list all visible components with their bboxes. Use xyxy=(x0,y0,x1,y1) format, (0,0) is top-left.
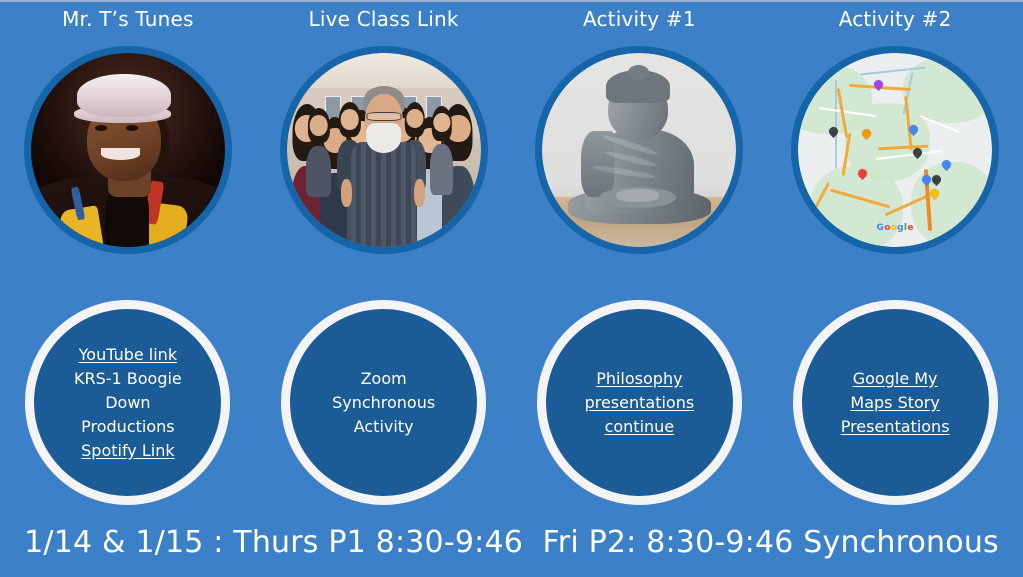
map-terrain xyxy=(911,162,992,247)
tunes-artist-line-2: Down xyxy=(105,391,150,415)
zoom-activity-line-1: Zoom xyxy=(361,367,407,391)
google-watermark-letter: e xyxy=(907,223,913,233)
tunes-artist-line-1: KRS-1 Boogie xyxy=(74,367,182,391)
column-headers: Mr. T’s Tunes Live Class Link Activity #… xyxy=(0,5,1023,33)
google-my-maps-link-line-3[interactable]: Presentations xyxy=(841,415,950,439)
student-figure xyxy=(430,144,453,194)
buddha-statue-photo xyxy=(535,46,743,254)
google-my-maps-circle[interactable]: Google My Maps Story Presentations xyxy=(793,300,998,505)
zoom-activity-circle[interactable]: Zoom Synchronous Activity xyxy=(281,300,486,505)
text-cell-live-class: Zoom Synchronous Activity xyxy=(256,300,512,505)
philosophy-presentations-circle[interactable]: Philosophy presentations continue xyxy=(537,300,742,505)
column-header-activity-1: Activity #1 xyxy=(512,5,768,33)
class-group-image xyxy=(287,53,481,247)
buddha-artwork xyxy=(542,53,736,247)
portrait-shirt xyxy=(105,189,150,247)
spotify-link[interactable]: Spotify Link xyxy=(81,439,175,463)
map-artwork: Google xyxy=(798,53,992,247)
text-cell-tunes: YouTube link KRS-1 Boogie Down Productio… xyxy=(0,300,256,505)
buddha-statue-image xyxy=(542,53,736,247)
google-map-photo: Google xyxy=(791,46,999,254)
teacher-figure xyxy=(351,142,417,247)
student-figure xyxy=(306,146,331,196)
buddha-hands xyxy=(616,189,659,203)
portrait-bucket-hat xyxy=(77,74,170,117)
teacher-thumbs-up-left xyxy=(341,179,352,207)
portrait-artwork xyxy=(31,53,225,247)
top-edge-line xyxy=(0,0,1023,2)
classroom-artwork xyxy=(287,53,481,247)
column-header-tunes: Mr. T’s Tunes xyxy=(0,5,256,33)
musician-portrait-photo xyxy=(24,46,232,254)
portrait-eye-right xyxy=(126,125,138,131)
google-my-maps-link-line-1[interactable]: Google My xyxy=(853,367,938,391)
schedule-text: 1/14 & 1/15 : Thurs P1 8:30-9:46 Fri P2:… xyxy=(24,524,999,562)
philosophy-link-line-1[interactable]: Philosophy xyxy=(596,367,682,391)
text-cell-activity-1: Philosophy presentations continue xyxy=(512,300,768,505)
photo-circle-row: Google xyxy=(0,46,1023,254)
map-pin xyxy=(872,78,885,91)
student-head xyxy=(340,109,359,130)
teacher-glasses xyxy=(366,112,401,122)
photo-cell-activity-2: Google xyxy=(767,46,1023,254)
philosophy-link-line-3[interactable]: continue xyxy=(605,415,675,439)
google-map-image: Google xyxy=(798,53,992,247)
tunes-artist-line-3: Productions xyxy=(81,415,174,439)
teacher-beard xyxy=(366,123,402,153)
google-my-maps-link-line-2[interactable]: Maps Story xyxy=(850,391,939,415)
schedule-banner: 1/14 & 1/15 : Thurs P1 8:30-9:46 Fri P2:… xyxy=(0,509,1023,577)
zoom-activity-line-3: Activity xyxy=(354,415,414,439)
youtube-link[interactable]: YouTube link xyxy=(79,343,177,367)
philosophy-link-line-2[interactable]: presentations xyxy=(585,391,695,415)
photo-cell-tunes xyxy=(0,46,256,254)
zoom-activity-line-2: Synchronous xyxy=(332,391,435,415)
column-header-activity-2: Activity #2 xyxy=(767,5,1023,33)
musician-portrait-image xyxy=(31,53,225,247)
google-watermark-letter: G xyxy=(877,223,885,233)
portrait-eye-left xyxy=(95,125,107,131)
slide-canvas: Mr. T’s Tunes Live Class Link Activity #… xyxy=(0,0,1023,577)
photo-cell-activity-1 xyxy=(512,46,768,254)
google-watermark: Google xyxy=(877,223,914,233)
class-group-photo xyxy=(280,46,488,254)
tunes-links-circle[interactable]: YouTube link KRS-1 Boogie Down Productio… xyxy=(25,300,230,505)
text-cell-activity-2: Google My Maps Story Presentations xyxy=(767,300,1023,505)
photo-cell-live-class xyxy=(256,46,512,254)
teacher-thumbs-up-right xyxy=(414,179,425,207)
student-head xyxy=(309,115,328,136)
text-circle-row: YouTube link KRS-1 Boogie Down Productio… xyxy=(0,300,1023,505)
portrait-smile xyxy=(101,148,140,160)
buddha-ushnisha xyxy=(628,65,649,81)
column-header-live-class-link: Live Class Link xyxy=(256,5,512,33)
